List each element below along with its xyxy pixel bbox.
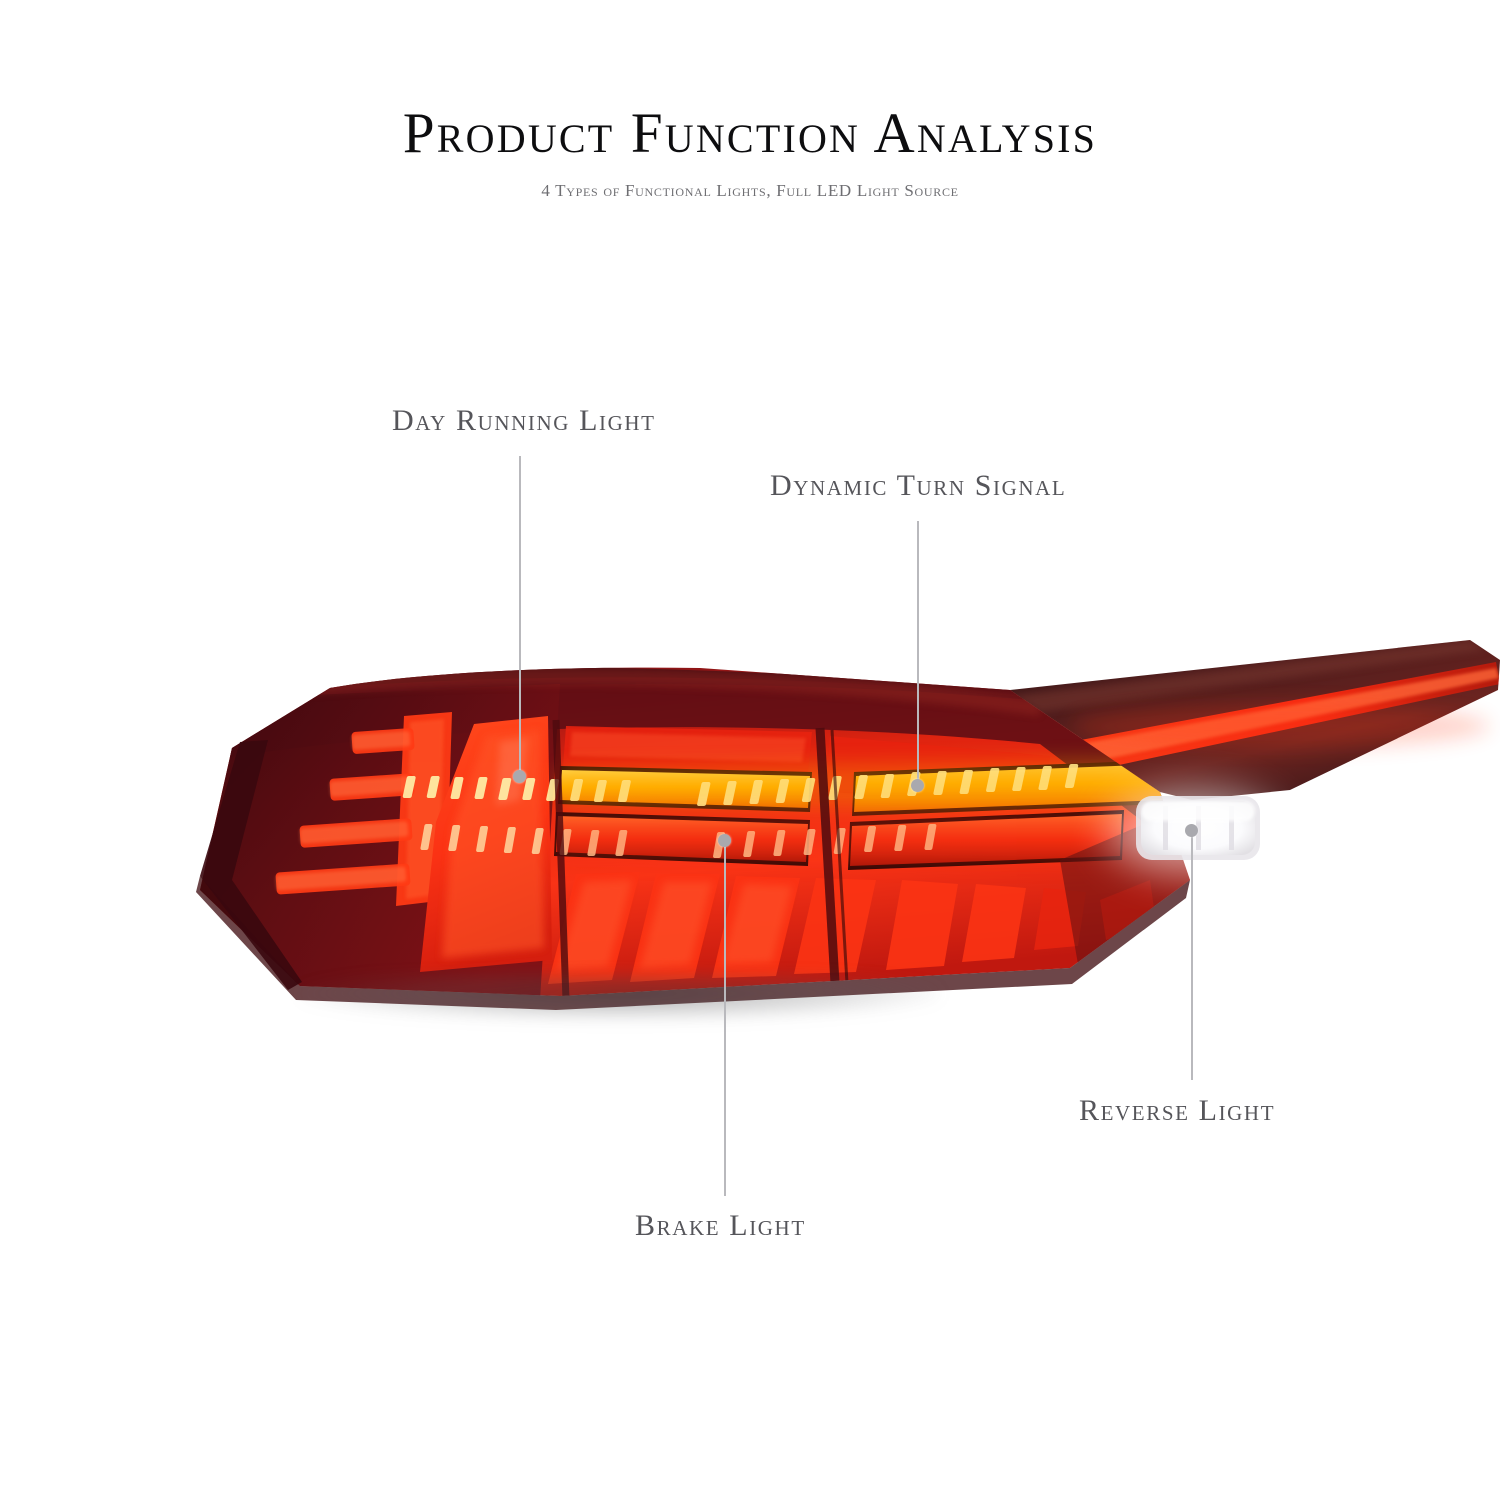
taillight-illustration <box>0 0 1500 1500</box>
lower-fin-blades <box>548 872 1086 984</box>
dynamic-turn-signal-strip <box>402 756 1272 816</box>
lamp-body <box>186 640 1272 1010</box>
callout-label-reverse-light: Reverse Light <box>1079 1094 1275 1128</box>
lamp-left-tip <box>200 740 302 990</box>
header: Product Function Analysis 4 Types of Fun… <box>0 0 1500 201</box>
drl-main-panel <box>420 716 552 972</box>
drl-upper-panel <box>562 726 1050 804</box>
leader-dot-brake-light <box>718 834 731 847</box>
leader-line-day-running-light <box>519 456 521 778</box>
leader-line-brake-light <box>724 846 726 1196</box>
infographic-page: Product Function Analysis 4 Types of Fun… <box>0 0 1500 1500</box>
leader-line-dynamic-turn-signal <box>917 521 919 787</box>
callout-label-dynamic-turn-signal: Dynamic Turn Signal <box>770 469 1066 503</box>
drl-comb-leds <box>275 712 452 906</box>
brake-light-strip <box>420 810 1124 870</box>
callout-label-brake-light: Brake Light <box>635 1209 806 1243</box>
tail-wing-extension <box>1000 634 1500 806</box>
taillight-product-image <box>0 0 1500 1500</box>
lamp-drop-shadow <box>300 975 940 1021</box>
leader-line-reverse-light <box>1191 836 1193 1080</box>
leader-dot-day-running-light <box>513 770 526 783</box>
wing-glow <box>1070 704 1490 748</box>
leader-dot-reverse-light <box>1185 824 1198 837</box>
callout-label-day-running-light: Day Running Light <box>392 404 656 438</box>
page-subtitle: 4 Types of Functional Lights, Full LED L… <box>0 164 1500 201</box>
leader-dot-dynamic-turn-signal <box>911 779 924 792</box>
page-title: Product Function Analysis <box>0 0 1500 164</box>
lamp-bottom-edge <box>196 876 1190 1010</box>
